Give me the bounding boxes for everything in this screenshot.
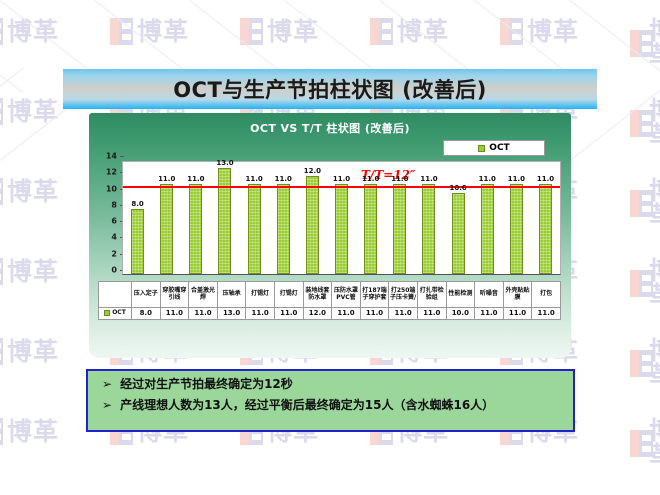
y-axis: 02468101214 <box>98 156 120 276</box>
watermark: 博革 <box>0 178 59 205</box>
watermark-text: 博革 <box>397 19 449 44</box>
legend-label: OCT <box>489 143 509 153</box>
bar-value-label: 11.0 <box>391 175 408 183</box>
bg-logo-icon <box>0 18 3 45</box>
bg-logo-icon <box>630 30 645 57</box>
watermark-text: 博革 <box>7 259 59 284</box>
chart-data-table: 压入定子穿胶嘴穿引线合盖激光焊压轴承打锡灯打锡灯装地线套防水罩压防水罩PVC管打… <box>98 281 561 320</box>
table-category-header: 听噪音 <box>475 282 504 308</box>
y-axis-tick-label: 6 <box>111 217 117 226</box>
bar-slot[interactable]: 8.0 <box>123 162 152 274</box>
watermark-text: 博革 <box>527 19 579 44</box>
bg-logo-icon <box>630 270 645 297</box>
plot-area: 8.011.011.013.011.011.012.011.011.011.01… <box>122 161 561 275</box>
watermark-text: 博革 <box>7 339 59 364</box>
watermark: 博革 <box>0 98 59 125</box>
table-category-header: 打锡灯 <box>274 282 303 308</box>
table-value-cell: 11.0 <box>332 308 361 320</box>
bar-value-label: 11.0 <box>479 175 496 183</box>
bar[interactable] <box>481 184 494 274</box>
bar[interactable] <box>539 184 552 274</box>
bar-slot[interactable]: 11.0 <box>181 162 210 274</box>
table-value-cell: 11.0 <box>475 308 504 320</box>
watermark-text: 博革 <box>7 19 59 44</box>
bar-value-label: 12.0 <box>304 167 321 175</box>
series-swatch-icon <box>104 310 110 316</box>
chart-legend[interactable]: OCT <box>443 140 545 156</box>
bg-logo-icon <box>500 18 523 45</box>
watermark-text: 博革 <box>7 99 59 124</box>
bar-slot[interactable]: 10.0 <box>444 162 473 274</box>
table-category-header: 打锡灯 <box>246 282 275 308</box>
bullet-arrow-icon: ➢ <box>102 378 112 391</box>
bar-slot[interactable]: 11.0 <box>269 162 298 274</box>
table-category-header: 压入定子 <box>132 282 161 308</box>
table-value-cell: 11.0 <box>246 308 275 320</box>
watermark-text: 博革 <box>649 178 660 228</box>
bar[interactable] <box>277 184 290 274</box>
bar-value-label: 11.0 <box>508 175 525 183</box>
table-series-label-cell: OCT <box>99 308 132 320</box>
watermark: 博革 <box>630 178 660 228</box>
bg-logo-icon <box>630 350 645 377</box>
bg-logo-icon <box>630 430 645 457</box>
note-line: ➢产线理想人数为13人，经过平衡后最终确定为15人（含水蜘蛛16人） <box>102 399 573 413</box>
watermark-text: 博革 <box>267 19 319 44</box>
watermark-diagonal <box>0 0 23 93</box>
bar-value-label: 11.0 <box>245 175 262 183</box>
table-value-cell: 11.0 <box>160 308 189 320</box>
bg-logo-icon <box>0 98 3 125</box>
watermark: 博革 <box>0 258 59 285</box>
watermark: 博革 <box>630 418 660 468</box>
bar[interactable] <box>364 184 377 274</box>
table-category-header: 压防水罩PVC管 <box>332 282 361 308</box>
table-value-cell: 11.0 <box>532 308 561 320</box>
table-category-header: 打包 <box>532 282 561 308</box>
bar[interactable] <box>335 184 348 274</box>
watermark: 博革 <box>500 18 579 45</box>
bullet-arrow-icon: ➢ <box>102 399 112 412</box>
bar[interactable] <box>131 209 144 274</box>
bar-value-label: 11.0 <box>420 175 437 183</box>
note-line: ➢经过对生产节拍最终确定为12秒 <box>102 378 573 392</box>
watermark-text: 博革 <box>649 98 660 148</box>
series-label: OCT <box>112 310 126 317</box>
table-corner-cell <box>99 282 132 308</box>
table-category-header: 打扎带检验组 <box>417 282 446 308</box>
y-axis-tick-label: 2 <box>111 249 117 258</box>
table-value-cell: 11.0 <box>274 308 303 320</box>
y-axis-tick-label: 0 <box>111 266 117 275</box>
table-value-cell: 13.0 <box>217 308 246 320</box>
bg-logo-icon <box>240 18 263 45</box>
watermark: 博革 <box>370 18 449 45</box>
bar-slot[interactable]: 11.0 <box>327 162 356 274</box>
watermark-text: 博革 <box>649 258 660 308</box>
watermark-text: 博革 <box>7 179 59 204</box>
bg-logo-icon <box>370 18 393 45</box>
y-axis-tick-label: 14 <box>106 152 117 161</box>
table-value-cell: 8.0 <box>132 308 161 320</box>
bar[interactable] <box>452 193 465 274</box>
bar-slot[interactable]: 11.0 <box>502 162 531 274</box>
bar-slot[interactable]: 11.0 <box>414 162 443 274</box>
bar[interactable] <box>393 184 406 274</box>
page-title-banner: OCT与生产节拍柱状图 (改善后) <box>63 69 597 109</box>
watermark: 博革 <box>630 338 660 388</box>
watermark: 博革 <box>630 258 660 308</box>
conclusion-notes-box: ➢经过对生产节拍最终确定为12秒➢产线理想人数为13人，经过平衡后最终确定为15… <box>86 369 575 432</box>
bar[interactable] <box>218 168 231 274</box>
table-value-cell: 11.0 <box>389 308 418 320</box>
legend-swatch-icon <box>478 145 485 152</box>
watermark: 博革 <box>110 18 189 45</box>
watermark: 博革 <box>240 18 319 45</box>
table-value-cell: 11.0 <box>360 308 389 320</box>
bg-logo-icon <box>0 418 3 445</box>
watermark-text: 博革 <box>649 18 660 68</box>
bg-logo-icon <box>0 178 3 205</box>
bar-slot[interactable]: 11.0 <box>240 162 269 274</box>
watermark: 博革 <box>0 338 59 365</box>
bar-value-label: 11.0 <box>187 175 204 183</box>
bg-logo-icon <box>630 190 645 217</box>
table-category-header: 穿胶嘴穿引线 <box>160 282 189 308</box>
bar-slot[interactable]: 11.0 <box>531 162 560 274</box>
bar-value-label: 11.0 <box>275 175 292 183</box>
watermark-diagonal <box>0 68 24 161</box>
bar-slot[interactable]: 13.0 <box>210 162 239 274</box>
table-value-cell: 11.0 <box>503 308 532 320</box>
y-axis-tick-label: 10 <box>106 184 117 193</box>
bar-value-label: 11.0 <box>158 175 175 183</box>
bar-value-label: 10.0 <box>449 184 466 192</box>
bar-slot[interactable]: 11.0 <box>152 162 181 274</box>
bar[interactable] <box>160 184 173 274</box>
table-value-row: OCT 8.011.011.013.011.011.012.011.011.01… <box>99 308 561 320</box>
note-text: 产线理想人数为13人，经过平衡后最终确定为15人（含水蜘蛛16人） <box>120 399 494 413</box>
takt-time-line <box>123 186 560 188</box>
bar[interactable] <box>422 184 435 274</box>
chart-panel: OCT VS T/T 柱状图 (改善后) OCT 02468101214 8.0… <box>89 113 571 358</box>
watermark: 博革 <box>630 98 660 148</box>
table-category-header: 性能检测 <box>446 282 475 308</box>
table-category-header: 打250端子压卡簧/ <box>389 282 418 308</box>
chart-title: OCT VS T/T 柱状图 (改善后) <box>89 113 571 136</box>
table-category-header: 打187端子穿护套 <box>360 282 389 308</box>
plot-wrapper: 02468101214 8.011.011.013.011.011.012.01… <box>89 161 571 276</box>
watermark-text: 博革 <box>7 419 59 444</box>
watermark-text: 博革 <box>137 19 189 44</box>
note-text: 经过对生产节拍最终确定为12秒 <box>120 378 293 392</box>
bar[interactable] <box>510 184 523 274</box>
table-category-header: 压轴承 <box>217 282 246 308</box>
table-value-cell: 12.0 <box>303 308 332 320</box>
bar-value-label: 11.0 <box>537 175 554 183</box>
table-category-header: 外壳贴贴膜 <box>503 282 532 308</box>
watermark: 博革 <box>0 418 59 445</box>
bg-logo-icon <box>0 338 3 365</box>
bg-logo-icon <box>630 110 645 137</box>
watermark-text: 博革 <box>649 418 660 468</box>
bar-slot[interactable]: 11.0 <box>473 162 502 274</box>
bar-value-label: 13.0 <box>216 159 233 167</box>
table-value-cell: 11.0 <box>189 308 218 320</box>
y-axis-tick-label: 8 <box>111 200 117 209</box>
y-axis-tick-label: 12 <box>106 168 117 177</box>
bar-slot[interactable]: 12.0 <box>298 162 327 274</box>
bg-logo-icon <box>0 258 3 285</box>
bar-value-label: 11.0 <box>362 175 379 183</box>
bar-value-label: 11.0 <box>333 175 350 183</box>
table-value-cell: 11.0 <box>417 308 446 320</box>
bg-logo-icon <box>110 18 133 45</box>
watermark: 博革 <box>630 18 660 68</box>
bar[interactable] <box>189 184 202 274</box>
y-axis-tick-mark <box>120 156 124 157</box>
watermark: 博革 <box>0 18 59 45</box>
watermark-text: 博革 <box>649 338 660 388</box>
table-category-header: 合盖激光焊 <box>189 282 218 308</box>
y-axis-tick-label: 4 <box>111 233 117 242</box>
bar[interactable] <box>306 176 319 274</box>
bar-series: 8.011.011.013.011.011.012.011.011.011.01… <box>123 162 560 274</box>
table-value-cell: 10.0 <box>446 308 475 320</box>
page-title: OCT与生产节拍柱状图 (改善后) <box>173 74 487 104</box>
bar-value-label: 8.0 <box>131 200 143 208</box>
bar[interactable] <box>248 184 261 274</box>
table-header-row: 压入定子穿胶嘴穿引线合盖激光焊压轴承打锡灯打锡灯装地线套防水罩压防水罩PVC管打… <box>99 282 561 308</box>
table-category-header: 装地线套防水罩 <box>303 282 332 308</box>
